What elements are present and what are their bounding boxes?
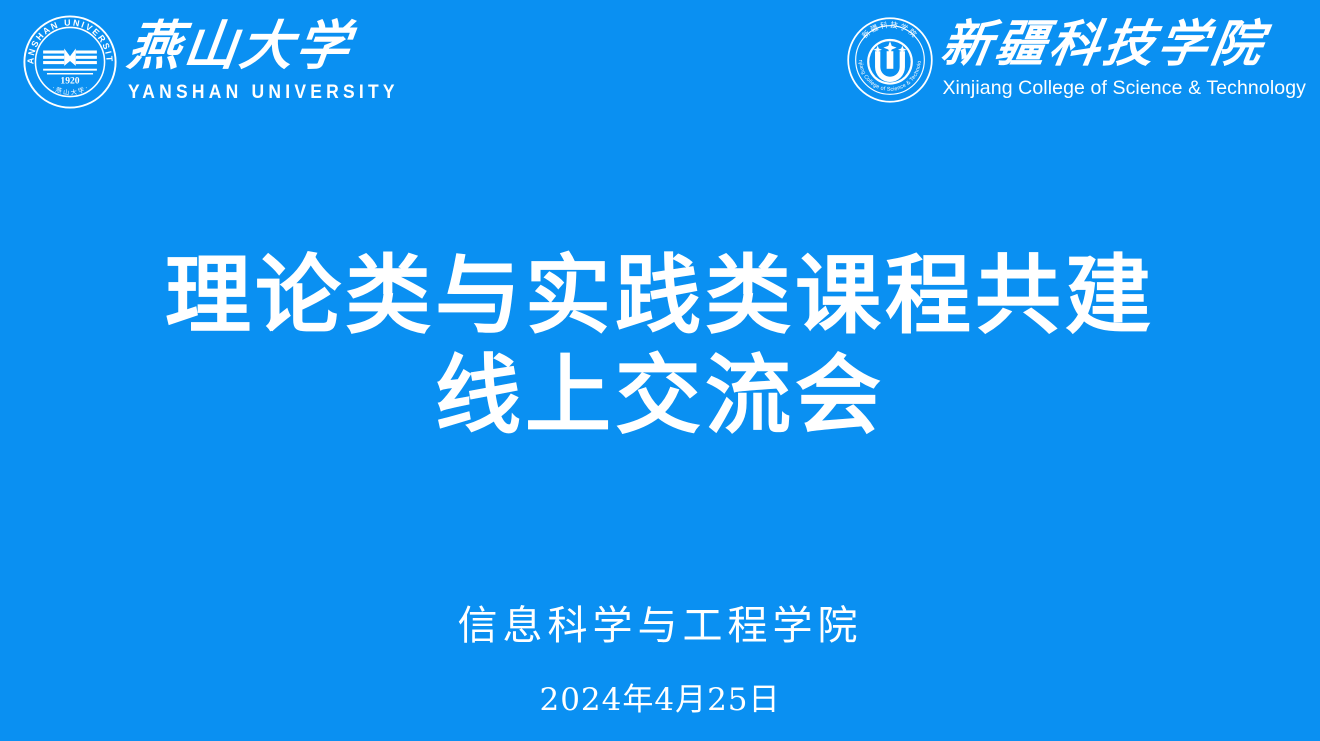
footer-organization: 信息科学与工程学院 — [0, 604, 1320, 648]
xinjiang-wordmark-en: Xinjiang College of Science & Technology — [942, 77, 1306, 100]
presentation-title-slide: YANSHAN UNIVERSITY · 燕 山 大 学 · — [0, 0, 1320, 741]
title-line-2: 线上交流会 — [0, 346, 1320, 446]
footer-date: 2024年4月25日 — [0, 674, 1320, 719]
page-title: 理论类与实践类课程共建 线上交流会 — [0, 246, 1320, 446]
yanshan-university-wordmark: 燕山大学 YANSHAN UNIVERSITY — [128, 20, 422, 104]
title-line-1: 理论类与实践类课程共建 — [0, 246, 1320, 346]
svg-text:1920: 1920 — [60, 76, 79, 87]
xinjiang-college-seal-icon: 新疆科技学院 Xinjiang College of Science & Tec… — [846, 16, 934, 104]
svg-text:新疆科技学院: 新疆科技学院 — [860, 19, 921, 40]
yanshan-university-logo: YANSHAN UNIVERSITY · 燕 山 大 学 · — [22, 14, 422, 110]
xinjiang-college-wordmark: 新疆科技学院 Xinjiang College of Science & Tec… — [942, 19, 1306, 100]
yanshan-university-seal-icon: YANSHAN UNIVERSITY · 燕 山 大 学 · — [22, 14, 118, 110]
svg-text:2003: 2003 — [886, 78, 896, 83]
yanshan-wordmark-cn: 燕山大学 — [125, 20, 426, 73]
xinjiang-college-logo: 新疆科技学院 Xinjiang College of Science & Tec… — [846, 14, 1306, 104]
xinjiang-wordmark-cn: 新疆科技学院 — [938, 19, 1309, 69]
yanshan-wordmark-en: YANSHAN UNIVERSITY — [128, 82, 399, 104]
slide-footer: 信息科学与工程学院 2024年4月25日 — [0, 604, 1320, 719]
